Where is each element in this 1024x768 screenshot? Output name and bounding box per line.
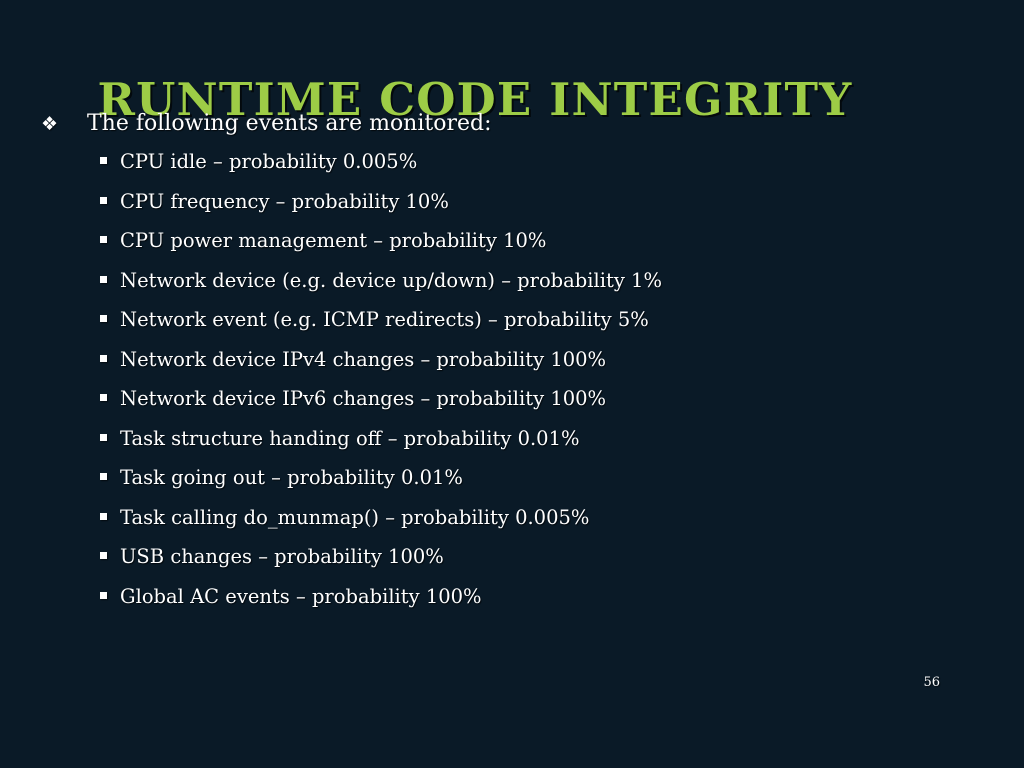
list-item: USB changes – probability 100% [0,545,1024,585]
list-item-label: Network device IPv6 changes – probabilit… [120,387,606,410]
diamond-bullet-icon: ❖ [41,111,58,137]
list-item-label: CPU idle – probability 0.005% [120,150,417,173]
list-item: CPU frequency – probability 10% [0,190,1024,230]
list-item: CPU power management – probability 10% [0,229,1024,269]
list-item-label: Task going out – probability 0.01% [120,466,463,489]
square-bullet-icon [100,276,107,283]
square-bullet-icon [100,355,107,362]
bullet-list: ❖ The following events are monitored: CP… [0,110,1024,624]
list-item-label: Network event (e.g. ICMP redirects) – pr… [120,308,649,331]
list-item-label: The following events are monitored: [87,111,492,136]
square-bullet-icon [100,513,107,520]
presentation-slide: RUNTIME CODE INTEGRITY ❖ The following e… [0,0,1024,768]
square-bullet-icon [100,473,107,480]
square-bullet-icon [100,197,107,204]
list-item-label: Global AC events – probability 100% [120,585,482,608]
list-item: Task structure handing off – probability… [0,427,1024,467]
list-item-level1: ❖ The following events are monitored: [0,110,1024,140]
list-item: Network device (e.g. device up/down) – p… [0,269,1024,309]
list-item: Task calling do_munmap() – probability 0… [0,506,1024,546]
square-bullet-icon [100,394,107,401]
list-item: Task going out – probability 0.01% [0,466,1024,506]
list-item-label: CPU power management – probability 10% [120,229,546,252]
list-item: Network device IPv6 changes – probabilit… [0,387,1024,427]
list-item: Network device IPv4 changes – probabilit… [0,348,1024,388]
list-item: Global AC events – probability 100% [0,585,1024,625]
list-item-label: Network device (e.g. device up/down) – p… [120,269,662,292]
square-bullet-icon [100,315,107,322]
square-bullet-icon [100,592,107,599]
list-item-label: Task calling do_munmap() – probability 0… [120,506,589,529]
square-bullet-icon [100,434,107,441]
list-item: CPU idle – probability 0.005% [0,150,1024,190]
list-item-label: USB changes – probability 100% [120,545,444,568]
slide-number: 56 [923,675,940,691]
square-bullet-icon [100,552,107,559]
list-item-label: CPU frequency – probability 10% [120,190,449,213]
list-item-label: Task structure handing off – probability… [120,427,580,450]
square-bullet-icon [100,236,107,243]
list-item: Network event (e.g. ICMP redirects) – pr… [0,308,1024,348]
list-item-label: Network device IPv4 changes – probabilit… [120,348,606,371]
square-bullet-icon [100,157,107,164]
